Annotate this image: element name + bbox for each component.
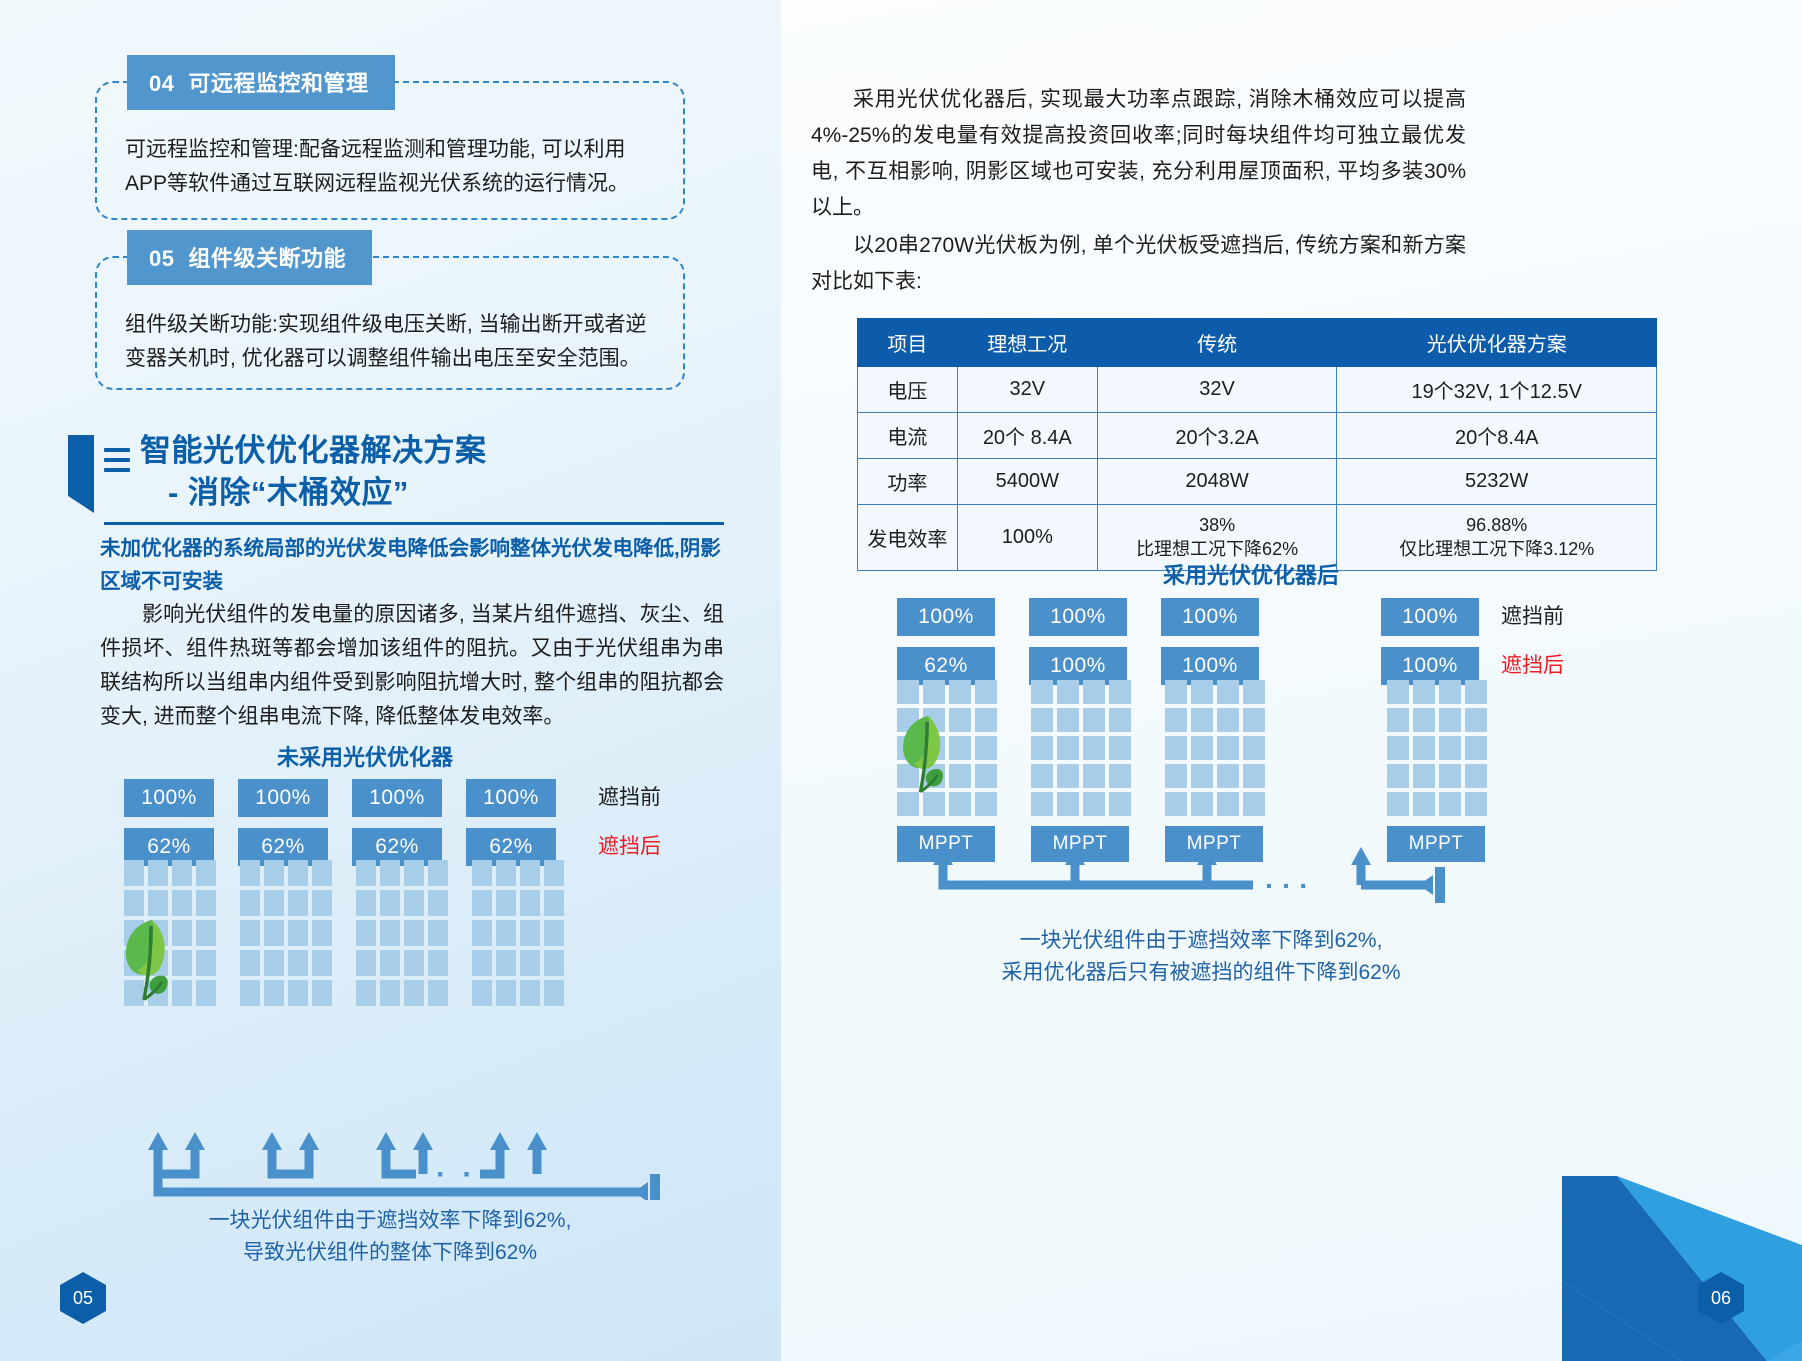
pct-cell: 100% [466, 779, 556, 817]
table-cell-label: 功率 [858, 459, 958, 505]
solar-panel [472, 860, 564, 1006]
pct-cell: 100% [1161, 598, 1259, 636]
section-title-line2: - 消除“木桶效应” [168, 472, 738, 514]
table-header-cell: 传统 [1097, 319, 1337, 367]
section-heading: 智能光伏优化器解决方案 - 消除“木桶效应” [68, 430, 738, 514]
table-row: 电流 20个 8.4A 20个3.2A 20个8.4A [858, 413, 1657, 459]
panel-group: MPPT [1031, 680, 1131, 862]
pct-cell: 100% [1029, 598, 1127, 636]
table-cell-optimizer: 5232W [1337, 459, 1657, 505]
solar-panel [240, 860, 332, 1006]
table-cell-optimizer: 20个8.4A [1337, 413, 1657, 459]
pct-cell: 100% [1381, 598, 1479, 636]
pct-cell: 100% [124, 779, 214, 817]
feature-card-04: 04可远程监控和管理 可远程监控和管理:配备远程监测和管理功能, 可以利用APP… [95, 55, 685, 220]
solar-panel [356, 860, 448, 1006]
panel-group: MPPT [1387, 680, 1487, 862]
caption-line-2: 采用优化器后只有被遮挡的组件下降到62% [901, 957, 1501, 989]
card-05-number: 05 [149, 246, 174, 271]
table-cell-traditional: 20个3.2A [1097, 413, 1337, 459]
wiring-dots: · · · [1265, 870, 1309, 901]
row-label-before: 遮挡前 [598, 779, 661, 817]
brochure-spread: 04可远程监控和管理 可远程监控和管理:配备远程监测和管理功能, 可以利用APP… [0, 0, 1802, 1361]
right-panel-array: MPPT MPPT MPPT MPPT [897, 680, 1487, 862]
right-paragraph-1: 采用光伏优化器后, 实现最大功率点跟踪, 消除木桶效应可以提高4%-25%的发电… [811, 82, 1466, 226]
left-paragraph-text: 影响光伏组件的发电量的原因诸多, 当某片组件遮挡、灰尘、组件损坏、组件热斑等都会… [100, 598, 724, 734]
left-row-before: 100% 100% 100% 100% 遮挡前 [124, 779, 661, 817]
card-05-chip: 05组件级关断功能 [127, 230, 372, 285]
table-header-cell: 光伏优化器方案 [1337, 319, 1657, 367]
card-04-chip: 04可远程监控和管理 [127, 55, 395, 110]
table-cell-ideal: 32V [957, 367, 1097, 413]
caption-line-1: 一块光伏组件由于遮挡效率下降到62%, [110, 1205, 670, 1237]
hamburger-icon [104, 448, 130, 478]
table-row: 电压 32V 32V 19个32V, 1个12.5V [858, 367, 1657, 413]
section-title: 智能光伏优化器解决方案 - 消除“木桶效应” [140, 430, 738, 514]
row-label-after: 遮挡后 [598, 828, 661, 866]
card-04-number: 04 [149, 71, 174, 96]
card-05-title: 组件级关断功能 [188, 246, 346, 271]
leaf-icon [118, 916, 188, 1006]
row-label-after: 遮挡后 [1501, 647, 1564, 685]
right-row-before: 100% 100% 100% 100% 遮挡前 [897, 598, 1564, 636]
row-label-before: 遮挡前 [1501, 598, 1564, 636]
pct-cell: 100% [352, 779, 442, 817]
table-cell-traditional: 32V [1097, 367, 1337, 413]
section-title-line1: 智能光伏优化器解决方案 [140, 430, 738, 472]
left-wiring-diagram: · · · [120, 1130, 680, 1200]
table-cell-optimizer: 19个32V, 1个12.5V [1337, 367, 1657, 413]
left-diagram-title: 未采用光伏优化器 [120, 740, 610, 772]
feature-card-05: 05组件级关断功能 组件级关断功能:实现组件级电压关断, 当输出断开或者逆变器关… [95, 230, 685, 390]
card-04-title: 可远程监控和管理 [188, 71, 368, 96]
left-panel-array [124, 860, 564, 1006]
comparison-table: 项目 理想工况 传统 光伏优化器方案 电压 32V 32V 19个32V, 1个… [857, 318, 1657, 571]
section-divider [104, 522, 724, 525]
right-wiring-diagram: · · · [893, 845, 1463, 905]
card-04-body: 可远程监控和管理:配备远程监测和管理功能, 可以利用APP等软件通过互联网远程监… [125, 133, 659, 201]
table-header-cell: 理想工况 [957, 319, 1097, 367]
decorative-chevrons [1562, 1131, 1802, 1361]
right-diagram-rows: 100% 100% 100% 100% 遮挡前 62% 100% 100% 10… [897, 598, 1564, 685]
page-number-left: 05 [60, 1272, 106, 1324]
right-paragraph-2: 以20串270W光伏板为例, 单个光伏板受遮挡后, 传统方案和新方案对比如下表: [811, 228, 1466, 300]
table-cell-label: 发电效率 [858, 505, 958, 571]
page-left: 04可远程监控和管理 可远程监控和管理:配备远程监测和管理功能, 可以利用APP… [0, 0, 781, 1361]
left-diagram-caption: 一块光伏组件由于遮挡效率下降到62%, 导致光伏组件的整体下降到62% [110, 1205, 670, 1268]
solar-panel [1031, 680, 1131, 816]
table-cell-ideal: 5400W [957, 459, 1097, 505]
panel-group: MPPT [1165, 680, 1265, 862]
solar-panel [1165, 680, 1265, 816]
leaf-icon [893, 712, 965, 798]
pct-cell: 100% [238, 779, 328, 817]
caption-line-1: 一块光伏组件由于遮挡效率下降到62%, [901, 925, 1501, 957]
panel-group: MPPT [897, 680, 997, 862]
table-cell-label: 电压 [858, 367, 958, 413]
table-cell-traditional: 2048W [1097, 459, 1337, 505]
right-diagram-caption: 一块光伏组件由于遮挡效率下降到62%, 采用优化器后只有被遮挡的组件下降到62% [901, 925, 1501, 988]
table-header-cell: 项目 [858, 319, 958, 367]
left-paragraph: 影响光伏组件的发电量的原因诸多, 当某片组件遮挡、灰尘、组件损坏、组件热斑等都会… [100, 598, 724, 734]
pct-cell: 100% [897, 598, 995, 636]
page-right: 采用光伏优化器后, 实现最大功率点跟踪, 消除木桶效应可以提高4%-25%的发电… [781, 0, 1802, 1361]
table-cell-ideal: 20个 8.4A [957, 413, 1097, 459]
wiring-dots: · · · [436, 1158, 503, 1191]
caption-line-2: 导致光伏组件的整体下降到62% [110, 1237, 670, 1269]
section-flag-icon [68, 435, 94, 513]
table-header-row: 项目 理想工况 传统 光伏优化器方案 [858, 319, 1657, 367]
solar-panel [124, 860, 216, 1006]
table-cell-label: 电流 [858, 413, 958, 459]
lead-text: 未加优化器的系统局部的光伏发电降低会影响整体光伏发电降低,阴影区域不可安装 [100, 532, 724, 598]
solar-panel [1387, 680, 1487, 816]
card-05-body: 组件级关断功能:实现组件级电压关断, 当输出断开或者逆变器关机时, 优化器可以调… [125, 308, 659, 376]
right-diagram-title: 采用光伏优化器后 [971, 558, 1531, 590]
left-diagram-rows: 100% 100% 100% 100% 遮挡前 62% 62% 62% 62% … [124, 779, 661, 866]
table-row: 功率 5400W 2048W 5232W [858, 459, 1657, 505]
